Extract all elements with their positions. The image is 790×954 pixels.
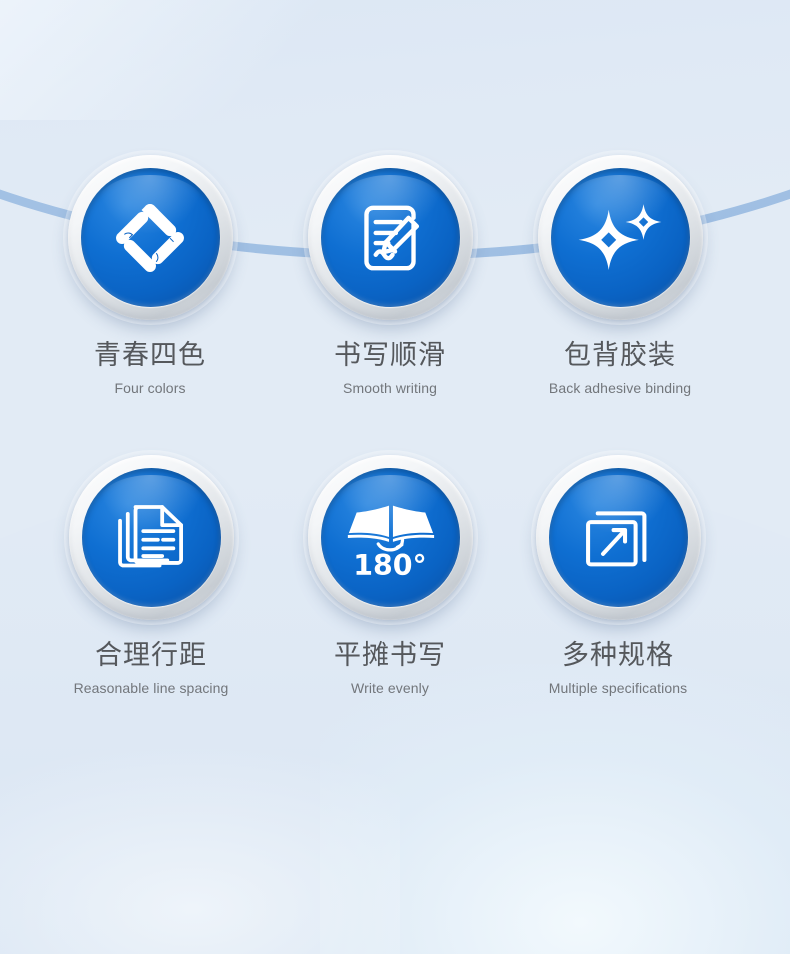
book-angle-text: 180° bbox=[353, 549, 427, 582]
feature-title-cn: 包背胶装 bbox=[500, 341, 740, 371]
feature-grid: 青春四色 Four colors bbox=[0, 0, 790, 954]
feature-title-en: Smooth writing bbox=[270, 380, 510, 396]
feature-badge bbox=[69, 455, 234, 620]
document-pencil-icon bbox=[321, 168, 460, 307]
feature-title-cn: 书写顺滑 bbox=[270, 341, 510, 371]
feature-item-four-colors: 青春四色 Four colors bbox=[30, 155, 270, 396]
feature-badge: 180° bbox=[308, 455, 473, 620]
feature-title-en: Back adhesive binding bbox=[500, 380, 740, 396]
feature-badge bbox=[68, 155, 233, 320]
feature-badge bbox=[308, 155, 473, 320]
feature-title-cn: 多种规格 bbox=[498, 641, 738, 671]
feature-item-reasonable-line-spacing: 合理行距 Reasonable line spacing bbox=[31, 455, 271, 696]
feature-item-back-adhesive-binding: 包背胶装 Back adhesive binding bbox=[500, 155, 740, 396]
feature-title-cn: 合理行距 bbox=[31, 641, 271, 671]
feature-title-en: Write evenly bbox=[270, 680, 510, 696]
overlapping-squares-arrow-icon bbox=[549, 468, 688, 607]
feature-item-multiple-specifications: 多种规格 Multiple specifications bbox=[498, 455, 738, 696]
feature-item-smooth-writing: 书写顺滑 Smooth writing bbox=[270, 155, 510, 396]
feature-badge bbox=[538, 155, 703, 320]
feature-title-cn: 平摊书写 bbox=[270, 641, 510, 671]
feature-item-write-evenly: 180° 平摊书写 Write evenly bbox=[270, 455, 510, 696]
interlocking-diamond-icon bbox=[81, 168, 220, 307]
sparkle-stars-icon bbox=[551, 168, 690, 307]
feature-title-cn: 青春四色 bbox=[30, 341, 270, 371]
stacked-documents-icon bbox=[82, 468, 221, 607]
infographic-canvas: 青春四色 Four colors bbox=[0, 0, 790, 954]
feature-badge bbox=[536, 455, 701, 620]
feature-title-en: Four colors bbox=[30, 380, 270, 396]
feature-title-en: Multiple specifications bbox=[498, 680, 738, 696]
feature-title-en: Reasonable line spacing bbox=[31, 680, 271, 696]
open-book-180-icon: 180° bbox=[321, 468, 460, 607]
